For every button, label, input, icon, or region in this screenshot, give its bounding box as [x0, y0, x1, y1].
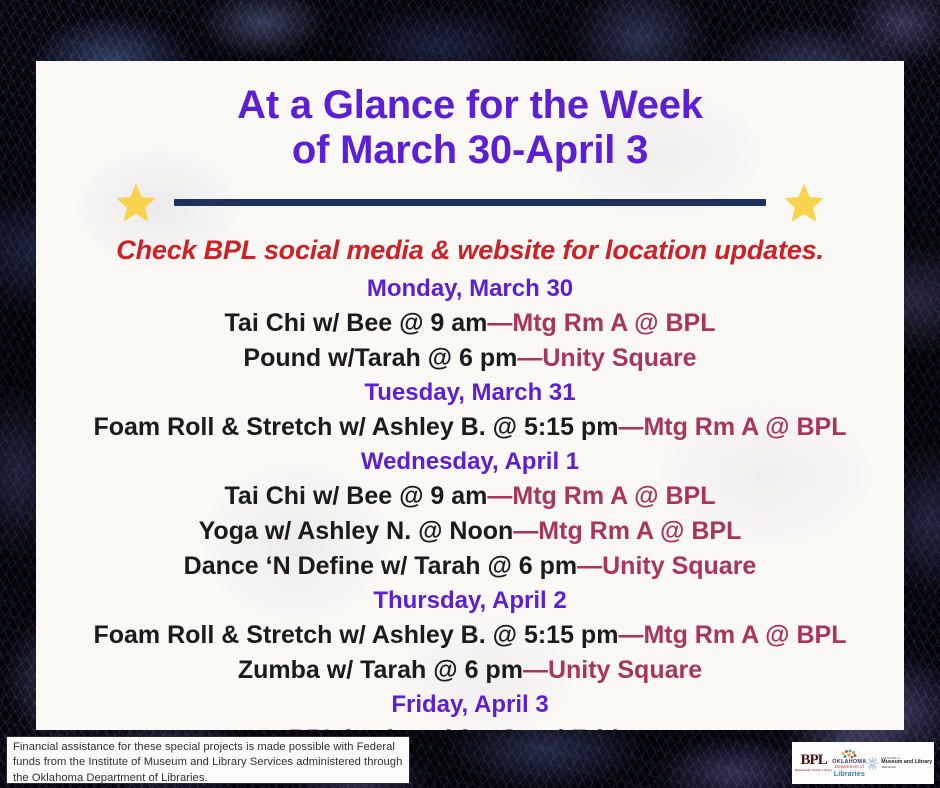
- event-dash: —: [487, 309, 512, 337]
- event-line: Tai Chi w/ Bee @ 9 am—Mtg Rm A @ BPL: [36, 306, 904, 341]
- event-line: Dance ‘N Define w/ Tarah @ 6 pm—Unity Sq…: [36, 549, 904, 584]
- event-title: Zumba w/ Tarah @ 6 pm: [238, 656, 523, 684]
- closed-note: BPL is closed for Good Friday.: [36, 722, 904, 730]
- bpl-logo: BPL Bartlesville Public Library: [795, 753, 832, 772]
- divider-bar: [174, 199, 766, 206]
- star-icon-right: [782, 181, 826, 225]
- sparkle-icon: [866, 757, 879, 770]
- odl-logo-line-3: Libraries: [834, 770, 865, 777]
- funding-statement: Financial assistance for these special p…: [6, 736, 410, 784]
- day-heading: Monday, March 30: [36, 272, 904, 306]
- event-line: Pound w/Tarah @ 6 pm—Unity Square: [36, 341, 904, 376]
- event-dash: —: [487, 482, 512, 510]
- day-heading: Friday, April 3: [36, 688, 904, 722]
- event-location: Mtg Rm A @ BPL: [643, 413, 846, 441]
- subtitle-notice: Check BPL social media & website for loc…: [36, 235, 904, 266]
- event-line: Tai Chi w/ Bee @ 9 am—Mtg Rm A @ BPL: [36, 479, 904, 514]
- event-dash: —: [618, 621, 643, 649]
- oklahoma-department-of-libraries-logo: OKLAHOMA Department of Libraries: [832, 749, 866, 777]
- poster-canvas: At a Glance for the Week of March 30-Apr…: [0, 0, 940, 788]
- event-line: Yoga w/ Ashley N. @ Noon—Mtg Rm A @ BPL: [36, 514, 904, 549]
- logo-strip: BPL Bartlesville Public Library OKLAHOMA…: [792, 742, 934, 784]
- event-line: Zumba w/ Tarah @ 6 pm—Unity Square: [36, 653, 904, 688]
- bpl-logo-monogram: BPL: [801, 753, 827, 768]
- event-location: Unity Square: [602, 552, 756, 580]
- event-location: Mtg Rm A @ BPL: [512, 482, 715, 510]
- divider-row: [36, 181, 904, 225]
- event-title: Dance ‘N Define w/ Tarah @ 6 pm: [184, 552, 577, 580]
- bpl-logo-caption: Bartlesville Public Library: [795, 769, 832, 772]
- event-location: Mtg Rm A @ BPL: [643, 621, 846, 649]
- event-dash: —: [517, 344, 542, 372]
- event-title: Tai Chi w/ Bee @ 9 am: [225, 309, 488, 337]
- event-location: Mtg Rm A @ BPL: [538, 517, 741, 545]
- day-heading: Thursday, April 2: [36, 584, 904, 618]
- event-dash: —: [513, 517, 538, 545]
- institute-of-museum-and-library-services-logo: INSTITUTE of Museum and Library SERVICES: [866, 757, 932, 770]
- event-title: Pound w/Tarah @ 6 pm: [243, 344, 517, 372]
- event-location: Unity Square: [542, 344, 696, 372]
- event-line: Foam Roll & Stretch w/ Ashley B. @ 5:15 …: [36, 618, 904, 653]
- event-dash: —: [618, 413, 643, 441]
- event-line: Foam Roll & Stretch w/ Ashley B. @ 5:15 …: [36, 410, 904, 445]
- day-heading: Tuesday, March 31: [36, 376, 904, 410]
- event-title: Foam Roll & Stretch w/ Ashley B. @ 5:15 …: [93, 413, 618, 441]
- flyer-card: At a Glance for the Week of March 30-Apr…: [36, 61, 904, 730]
- event-location: Unity Square: [548, 656, 702, 684]
- title-line-1: At a Glance for the Week: [36, 83, 904, 128]
- day-heading: Wednesday, April 1: [36, 445, 904, 479]
- star-icon-left: [114, 181, 158, 225]
- event-title: Foam Roll & Stretch w/ Ashley B. @ 5:15 …: [93, 621, 618, 649]
- event-title: Yoga w/ Ashley N. @ Noon: [199, 517, 514, 545]
- page-title: At a Glance for the Week of March 30-Apr…: [36, 61, 904, 173]
- title-line-2: of March 30-April 3: [36, 128, 904, 173]
- event-dash: —: [523, 656, 548, 684]
- event-dash: —: [577, 552, 602, 580]
- event-location: Mtg Rm A @ BPL: [512, 309, 715, 337]
- event-title: Tai Chi w/ Bee @ 9 am: [225, 482, 488, 510]
- imls-logo-line-3: SERVICES: [881, 766, 896, 769]
- schedule-list: Monday, March 30Tai Chi w/ Bee @ 9 am—Mt…: [36, 272, 904, 730]
